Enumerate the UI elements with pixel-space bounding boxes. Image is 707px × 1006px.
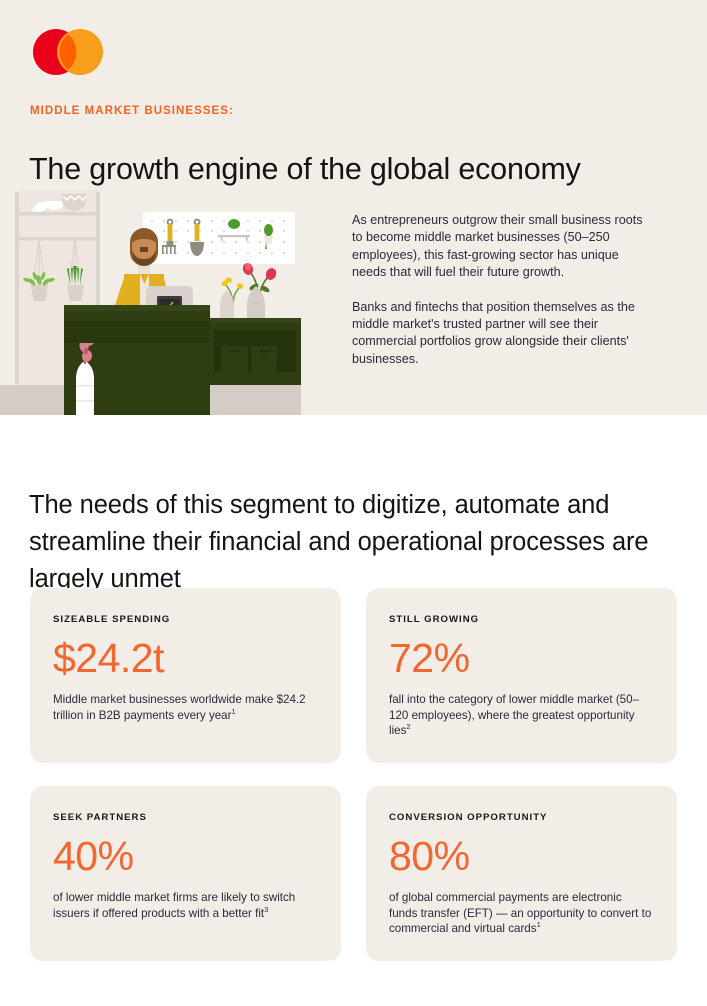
hero-paragraph-1: As entrepreneurs outgrow their small bus… [352,212,644,282]
stat-card-conversion-opportunity: CONVERSION OPPORTUNITY 80% of global com… [366,786,677,961]
stat-card-sizeable-spending: SIZEABLE SPENDING $24.2t Middle market b… [30,588,341,763]
stat-card-value: 80% [389,831,653,881]
stat-card-label: STILL GROWING [389,614,653,626]
stat-card-value: $24.2t [53,633,317,683]
stat-card-description-text: of global commercial payments are electr… [389,891,651,935]
stat-card-label: CONVERSION OPPORTUNITY [389,812,653,824]
stat-card-label: SEEK PARTNERS [53,812,317,824]
section-title: The needs of this segment to digitize, a… [29,487,669,598]
stat-card-label: SIZEABLE SPENDING [53,614,317,626]
stat-card-still-growing: STILL GROWING 72% fall into the category… [366,588,677,763]
hero-paragraph-2: Banks and fintechs that position themsel… [352,299,644,369]
stat-card-seek-partners: SEEK PARTNERS 40% of lower middle market… [30,786,341,961]
stat-card-description-text: fall into the category of lower middle m… [389,693,639,737]
stat-card-description: of lower middle market firms are likely … [53,890,317,921]
footnote-marker: 3 [264,905,268,914]
hero-band: MIDDLE MARKET BUSINESSES: The growth eng… [0,0,707,415]
garden-shop-illustration [0,190,330,415]
stat-card-value: 40% [53,831,317,881]
stat-card-description: Middle market businesses worldwide make … [53,692,317,723]
mastercard-logo [30,28,106,76]
page-title: The growth engine of the global economy [29,149,581,189]
stat-card-description: fall into the category of lower middle m… [389,692,653,739]
footnote-marker: 2 [406,722,410,731]
eyebrow-label: MIDDLE MARKET BUSINESSES: [30,104,234,118]
footnote-marker: 1 [537,920,541,929]
stat-card-value: 72% [389,633,653,683]
hero-body-copy: As entrepreneurs outgrow their small bus… [352,212,644,368]
stats-section: The needs of this segment to digitize, a… [0,415,707,1006]
footnote-marker: 1 [232,707,236,716]
stat-card-description-text: of lower middle market firms are likely … [53,891,295,920]
stat-card-description: of global commercial payments are electr… [389,890,653,937]
stat-card-description-text: Middle market businesses worldwide make … [53,693,306,722]
stat-card-grid: SIZEABLE SPENDING $24.2t Middle market b… [30,588,677,961]
